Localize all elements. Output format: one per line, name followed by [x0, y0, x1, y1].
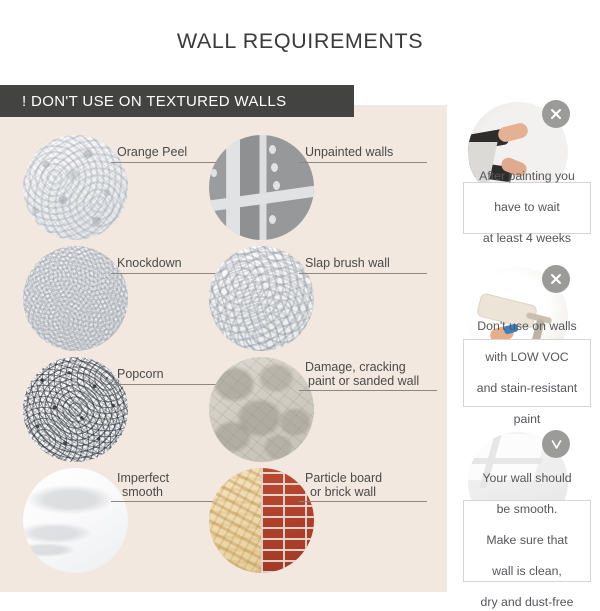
sample-label-knockdown: Knockdown: [117, 256, 182, 270]
tip-line: Make sure that: [481, 533, 574, 549]
tip-line: dry and dust-free: [481, 595, 574, 611]
sample-underline: [111, 384, 221, 385]
tip-line: wall is clean,: [481, 564, 574, 580]
tip-card-smooth-clean-wall: Your wall should be smooth. Make sure th…: [458, 432, 593, 587]
sample-label-unpainted-walls: Unpainted walls: [305, 145, 393, 159]
sample-label-imperfect-line2: smooth: [122, 485, 163, 499]
sample-damage-cracking-paint: Damage, cracking paint or sanded wall: [209, 357, 439, 467]
tip-line: Your wall should: [481, 471, 574, 487]
sample-particle-board-or-brick-wall: Particle board or brick wall: [209, 468, 439, 578]
sample-underline: [299, 501, 427, 502]
swatch-unpainted-walls-image: [209, 135, 314, 240]
x-icon: [542, 265, 570, 293]
tip-line: Don't use on walls: [477, 319, 577, 335]
tip-card-wait-4-weeks: After painting you have to wait at least…: [458, 102, 593, 242]
warning-ribbon-label: ! DON'T USE ON TEXTURED WALLS: [0, 93, 286, 110]
tip-line: have to wait: [479, 200, 575, 216]
tip-line: at least 4 weeks: [479, 231, 575, 247]
check-icon: [542, 430, 570, 458]
sample-underline: [299, 162, 427, 163]
tip-card-low-voc-paint: Don't use on walls with LOW VOC and stai…: [458, 267, 593, 417]
sample-label-damage-line2: paint or sanded wall: [308, 374, 419, 388]
sample-label-particle-line1: Particle board: [305, 471, 382, 485]
swatch-particle-board-or-brick-wall-image: [209, 468, 314, 573]
sample-label-particle-line2: or brick wall: [310, 485, 376, 499]
sample-label-imperfect-line1: Imperfect: [117, 471, 169, 485]
sample-knockdown: Knockdown: [23, 246, 223, 356]
tip-card-text-box-smooth-clean-wall: Your wall should be smooth. Make sure th…: [463, 500, 591, 582]
tip-card-text-box-wait-4-weeks: After painting you have to wait at least…: [463, 182, 591, 234]
infographic-canvas: WALL REQUIREMENTS ! DON'T USE ON TEXTURE…: [0, 0, 600, 600]
sample-slap-brush-wall: Slap brush wall: [209, 246, 439, 356]
sample-orange-peel: Orange Peel: [23, 135, 223, 245]
sample-underline: [111, 273, 221, 274]
sample-underline: [111, 162, 221, 163]
tip-card-text: After painting you have to wait at least…: [479, 169, 575, 247]
sample-popcorn: Popcorn: [23, 357, 223, 467]
sample-label-orange-peel: Orange Peel: [117, 145, 187, 159]
swatch-orange-peel-image: [23, 135, 128, 240]
swatch-damage-cracking-paint-image: [209, 357, 314, 462]
swatch-popcorn-image: [23, 357, 128, 462]
tip-line: with LOW VOC: [477, 350, 577, 366]
tip-line: and stain-resistant: [477, 381, 577, 397]
sample-underline: [299, 273, 427, 274]
sample-unpainted-walls: Unpainted walls: [209, 135, 439, 245]
tip-card-text-box-low-voc-paint: Don't use on walls with LOW VOC and stai…: [463, 339, 591, 407]
sample-label-popcorn: Popcorn: [117, 367, 164, 381]
tip-line: paint: [477, 412, 577, 428]
x-icon: [542, 100, 570, 128]
sample-imperfect-smooth: Imperfect smooth: [23, 468, 223, 578]
sample-underline: [111, 501, 221, 502]
swatch-slap-brush-wall-image: [209, 246, 314, 351]
tip-card-text: Your wall should be smooth. Make sure th…: [481, 471, 574, 611]
sample-label-damage-line1: Damage, cracking: [305, 360, 406, 374]
sample-underline: [299, 390, 437, 391]
tip-line: be smooth.: [481, 502, 574, 518]
tip-line: After painting you: [479, 169, 575, 185]
warning-ribbon: ! DON'T USE ON TEXTURED WALLS: [0, 85, 354, 117]
page-title: WALL REQUIREMENTS: [0, 29, 600, 54]
tip-card-text: Don't use on walls with LOW VOC and stai…: [477, 319, 577, 428]
sample-label-slap-brush-wall: Slap brush wall: [305, 256, 390, 270]
swatch-knockdown-image: [23, 246, 128, 351]
swatch-imperfect-smooth-image: [23, 468, 128, 573]
